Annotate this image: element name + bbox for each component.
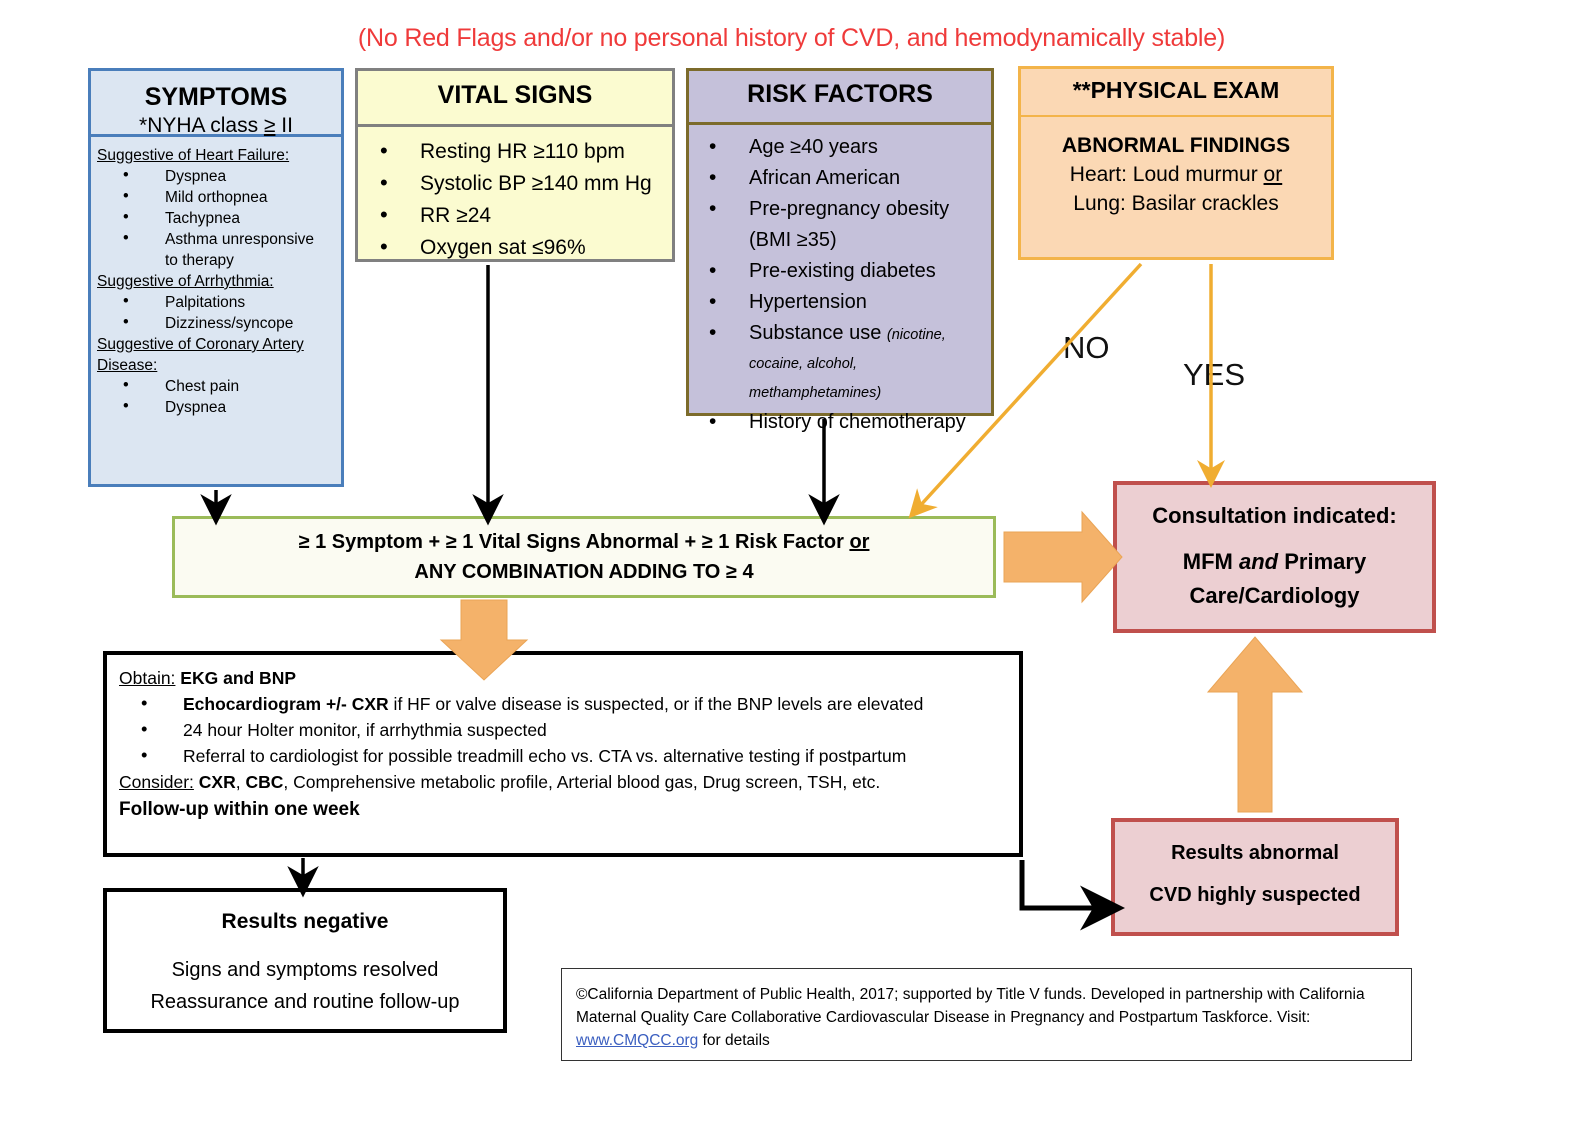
vital-signs-header: VITAL SIGNS: [358, 71, 672, 127]
consider-label: Consider:: [119, 772, 194, 792]
vital-signs-title: VITAL SIGNS: [358, 81, 672, 110]
list-item: Systolic BP ≥140 mm Hg: [358, 169, 668, 199]
decision-label-no: NO: [1063, 330, 1110, 366]
obtain-heading: Obtain: EKG and BNP: [119, 665, 1007, 691]
results-negative-line-1: Signs and symptoms resolved: [107, 954, 503, 986]
consultation-line-2: MFM and Primary: [1117, 545, 1432, 579]
banner-text: (No Red Flags and/or no personal history…: [0, 24, 1583, 53]
list-item: Hypertension: [689, 288, 989, 317]
obtain-value: EKG and BNP: [175, 668, 296, 688]
vital-signs-body: Resting HR ≥110 bpm Systolic BP ≥140 mm …: [358, 127, 672, 263]
symptoms-box: SYMPTOMS *NYHA class ≥ II Suggestive of …: [88, 68, 344, 487]
list-item: Age ≥40 years: [689, 133, 989, 162]
symptoms-cad-list: Chest pain Dyspnea: [97, 376, 337, 418]
block-arrow-results-to-consultation: [1208, 637, 1302, 812]
echo-bold: Echocardiogram +/- CXR: [183, 694, 389, 714]
footer-text-2: for details: [698, 1032, 770, 1049]
risk-factors-title: RISK FACTORS: [689, 80, 991, 109]
consider-line: Consider: CXR, CBC, Comprehensive metabo…: [119, 769, 1007, 795]
list-item: Dyspnea: [97, 166, 337, 187]
consultation-box: Consultation indicated: MFM and Primary …: [1113, 481, 1436, 633]
consider-cbc: CBC: [245, 772, 283, 792]
echo-rest: if HF or valve disease is suspected, or …: [389, 694, 924, 714]
consultation-line-1: Consultation indicated:: [1117, 499, 1432, 533]
symptoms-group-cad-line1: Suggestive of Coronary Artery: [97, 334, 337, 355]
vital-signs-box: VITAL SIGNS Resting HR ≥110 bpm Systolic…: [355, 68, 675, 262]
or-keyword: or: [849, 531, 869, 553]
physical-exam-header: **PHYSICAL EXAM: [1021, 69, 1331, 117]
consider-rest: , Comprehensive metabolic profile, Arter…: [283, 772, 880, 792]
risk-factors-list: Age ≥40 years African American Pre-pregn…: [689, 133, 989, 437]
substance-use-label: Substance use: [749, 322, 881, 344]
list-item: Pre-existing diabetes: [689, 257, 989, 286]
list-item: RR ≥24: [358, 201, 668, 231]
results-negative-heading: Results negative: [107, 906, 503, 938]
or-keyword: or: [1264, 163, 1283, 186]
list-item: Pre-pregnancy obesity: [689, 195, 989, 224]
list-item: Mild orthopnea: [97, 187, 337, 208]
risk-factors-header: RISK FACTORS: [689, 71, 991, 125]
list-item: Echocardiogram +/- CXR if HF or valve di…: [119, 691, 1007, 717]
symptoms-group-cad-line2: Disease:: [97, 355, 337, 376]
list-item-continuation: (BMI ≥35): [689, 226, 989, 255]
physical-exam-title: **PHYSICAL EXAM: [1021, 77, 1331, 104]
list-item: Oxygen sat ≤96%: [358, 233, 668, 263]
list-item: Chest pain: [97, 376, 337, 397]
mfm-text: MFM: [1183, 549, 1239, 574]
list-item: Referral to cardiologist for possible tr…: [119, 743, 1007, 769]
consultation-line-3: Care/Cardiology: [1117, 579, 1432, 613]
abnormal-findings-lung: Lung: Basilar crackles: [1021, 189, 1331, 218]
symptoms-arrhythmia-list: Palpitations Dizziness/syncope: [97, 292, 337, 334]
symptoms-heart-failure-list: Dyspnea Mild orthopnea Tachypnea Asthma …: [97, 166, 337, 271]
followup-line: Follow-up within one week: [119, 797, 1007, 823]
obtain-label: Obtain:: [119, 668, 175, 688]
symptoms-group-arrhythmia: Suggestive of Arrhythmia:: [97, 271, 337, 292]
list-item: Palpitations: [97, 292, 337, 313]
results-negative-line-2: Reassurance and routine follow-up: [107, 986, 503, 1018]
physical-exam-box: **PHYSICAL EXAM ABNORMAL FINDINGS Heart:…: [1018, 66, 1334, 260]
symptoms-title: SYMPTOMS: [91, 83, 341, 112]
results-abnormal-line-2: CVD highly suspected: [1115, 880, 1395, 910]
cmqcc-link[interactable]: www.CMQCC.org: [576, 1032, 698, 1049]
footer-text-1: ©California Department of Public Health,…: [576, 986, 1365, 1026]
heart-finding-text: Heart: Loud murmur: [1070, 163, 1264, 186]
list-item: Tachypnea: [97, 208, 337, 229]
criteria-line-2: ANY COMBINATION ADDING TO ≥ 4: [414, 557, 753, 587]
footer-credit-box: ©California Department of Public Health,…: [561, 968, 1412, 1061]
list-item: Dyspnea: [97, 397, 337, 418]
criteria-box: ≥ 1 Symptom + ≥ 1 Vital Signs Abnormal +…: [172, 516, 996, 598]
risk-factors-body: Age ≥40 years African American Pre-pregn…: [689, 125, 991, 437]
symptoms-group-heart-failure: Suggestive of Heart Failure:: [97, 145, 337, 166]
list-item: Asthma unresponsive: [97, 229, 337, 250]
obtain-workup-box: Obtain: EKG and BNP Echocardiogram +/- C…: [103, 651, 1023, 857]
list-item: Resting HR ≥110 bpm: [358, 137, 668, 167]
list-item-substance-use: Substance use (nicotine, cocaine, alcoho…: [689, 319, 989, 406]
abnormal-findings-heading: ABNORMAL FINDINGS: [1021, 131, 1331, 160]
risk-factors-box: RISK FACTORS Age ≥40 years African Ameri…: [686, 68, 994, 416]
and-keyword: and: [1239, 549, 1278, 574]
flowchart-canvas: (No Red Flags and/or no personal history…: [0, 0, 1583, 1127]
block-arrow-criteria-to-consultation: [1004, 512, 1122, 602]
list-item: Dizziness/syncope: [97, 313, 337, 334]
list-item: African American: [689, 164, 989, 193]
results-abnormal-line-1: Results abnormal: [1115, 838, 1395, 868]
results-negative-box: Results negative Signs and symptoms reso…: [103, 888, 507, 1033]
list-item: History of chemotherapy: [689, 408, 989, 437]
list-item-continuation: to therapy: [97, 250, 337, 271]
list-item: 24 hour Holter monitor, if arrhythmia su…: [119, 717, 1007, 743]
symptoms-header: SYMPTOMS *NYHA class ≥ II: [91, 71, 341, 137]
criteria-line-1-text: ≥ 1 Symptom + ≥ 1 Vital Signs Abnormal +…: [299, 531, 850, 553]
criteria-line-1: ≥ 1 Symptom + ≥ 1 Vital Signs Abnormal +…: [299, 527, 870, 557]
physical-exam-body: ABNORMAL FINDINGS Heart: Loud murmur or …: [1021, 117, 1331, 218]
spacer: [1115, 868, 1395, 880]
obtain-list: Echocardiogram +/- CXR if HF or valve di…: [119, 691, 1007, 769]
results-abnormal-box: Results abnormal CVD highly suspected: [1111, 818, 1399, 936]
abnormal-findings-heart: Heart: Loud murmur or: [1021, 160, 1331, 189]
symptoms-body: Suggestive of Heart Failure: Dyspnea Mil…: [91, 137, 341, 418]
symptoms-subtitle: *NYHA class ≥ II: [91, 114, 341, 138]
decision-label-yes: YES: [1183, 357, 1245, 393]
primary-text: Primary: [1278, 549, 1366, 574]
vital-signs-list: Resting HR ≥110 bpm Systolic BP ≥140 mm …: [358, 137, 668, 263]
arrow-obtain-to-results-abnormal: [1022, 860, 1100, 908]
consider-sep: ,: [236, 772, 246, 792]
spacer: [1117, 533, 1432, 545]
consider-cxr: CXR: [194, 772, 236, 792]
